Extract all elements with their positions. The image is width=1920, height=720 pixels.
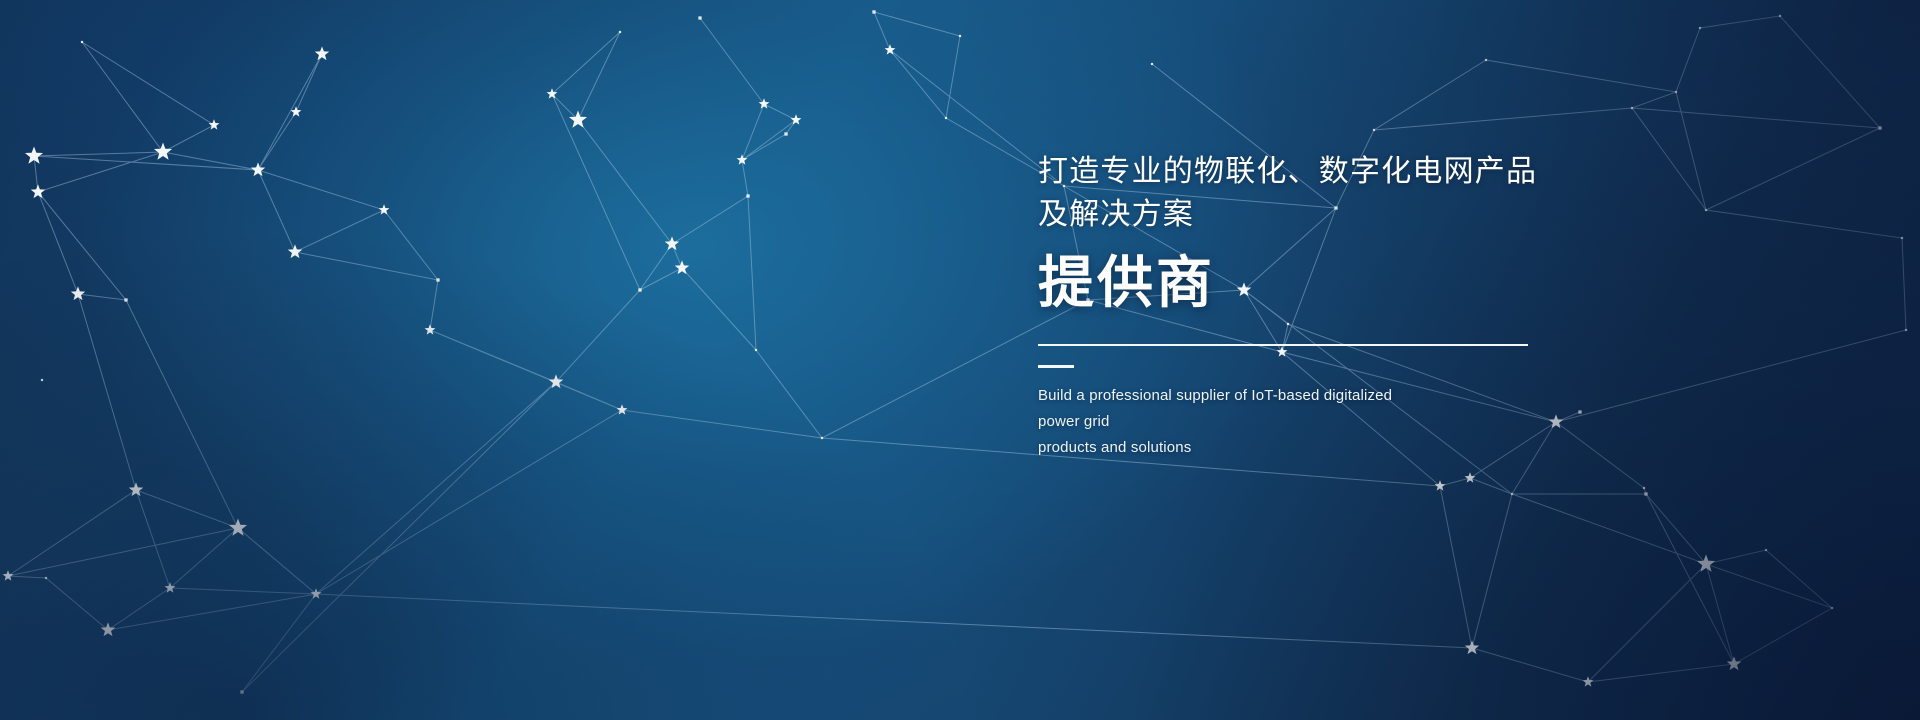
divider-long	[1038, 344, 1528, 346]
network-nodes	[0, 0, 1920, 720]
divider-short	[1038, 365, 1074, 368]
hero-banner: 打造专业的物联化、数字化电网产品 及解决方案 提供商 Build a profe…	[0, 0, 1920, 720]
hero-content: 打造专业的物联化、数字化电网产品 及解决方案 提供商 Build a profe…	[1038, 150, 1558, 461]
hero-big-title: 提供商	[1038, 250, 1558, 316]
hero-headline: 打造专业的物联化、数字化电网产品 及解决方案	[1038, 150, 1558, 236]
hero-subtitle: Build a professional supplier of IoT-bas…	[1038, 383, 1438, 461]
